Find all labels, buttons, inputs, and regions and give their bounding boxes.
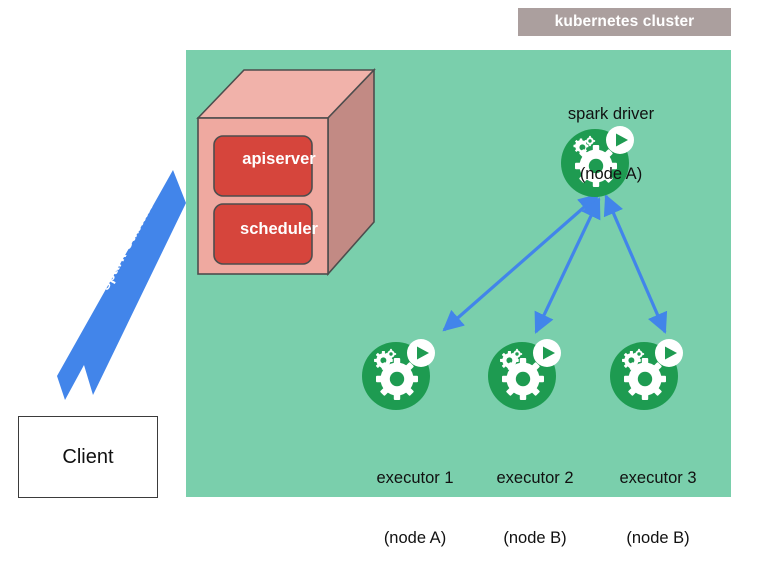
executor-3-node[interactable] [606,330,690,414]
client-box[interactable]: Client [18,416,158,498]
executor-3-caption: executor 3 (node B) [578,428,738,588]
executor-2-node[interactable] [484,330,568,414]
executor-1-node[interactable] [358,330,442,414]
executor-3-caption-line1: executor 3 [578,468,738,488]
spark-driver-caption-line1: spark driver [521,104,701,124]
control-plane-cube [196,62,376,282]
executor-3-caption-line2: (node B) [578,528,738,548]
cluster-banner-label: kubernetes cluster [555,13,695,31]
spark-submit-label: spark-submit [96,200,156,293]
spark-submit-ribbon [57,170,186,400]
diagram-canvas: kubernetes cluster apiserver scheduler s… [0,0,761,516]
spark-driver-caption: spark driver (node A) [521,64,701,224]
cluster-banner: kubernetes cluster [518,8,731,36]
scheduler-label: scheduler [219,220,339,239]
client-label: Client [62,446,113,469]
apiserver-label: apiserver [219,150,339,169]
spark-driver-caption-line2: (node A) [521,164,701,184]
